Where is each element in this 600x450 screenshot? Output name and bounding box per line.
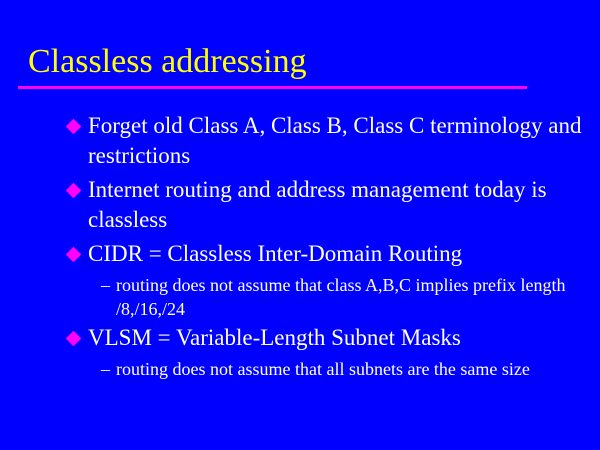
list-item-label: Internet routing and address management …: [88, 175, 582, 235]
dash-bullet-icon: –: [101, 357, 110, 381]
diamond-bullet-icon: [66, 247, 82, 263]
list-item: Forget old Class A, Class B, Class C ter…: [0, 111, 600, 171]
sub-list-item-label: routing does not assume that class A,B,C…: [116, 273, 570, 321]
diamond-bullet-icon: [66, 183, 82, 199]
dash-bullet-icon: –: [101, 273, 110, 297]
list-item: VLSM = Variable-Length Subnet Masks: [0, 323, 600, 353]
list-item: Internet routing and address management …: [0, 175, 600, 235]
sub-list-item-label: routing does not assume that all subnets…: [116, 357, 570, 381]
list-item-label: VLSM = Variable-Length Subnet Masks: [88, 323, 582, 353]
slide-body-list: Forget old Class A, Class B, Class C ter…: [0, 111, 600, 383]
sub-list-item: – routing does not assume that all subne…: [0, 357, 600, 381]
page-title: Classless addressing: [28, 42, 307, 82]
list-item-label: Forget old Class A, Class B, Class C ter…: [88, 111, 582, 171]
presentation-slide: Classless addressing Forget old Class A,…: [0, 0, 600, 450]
title-divider: [18, 86, 527, 89]
list-item: CIDR = Classless Inter-Domain Routing: [0, 239, 600, 269]
sub-list-item: – routing does not assume that class A,B…: [0, 273, 600, 321]
list-item-label: CIDR = Classless Inter-Domain Routing: [88, 239, 582, 269]
diamond-bullet-icon: [66, 119, 82, 135]
diamond-bullet-icon: [66, 331, 82, 347]
